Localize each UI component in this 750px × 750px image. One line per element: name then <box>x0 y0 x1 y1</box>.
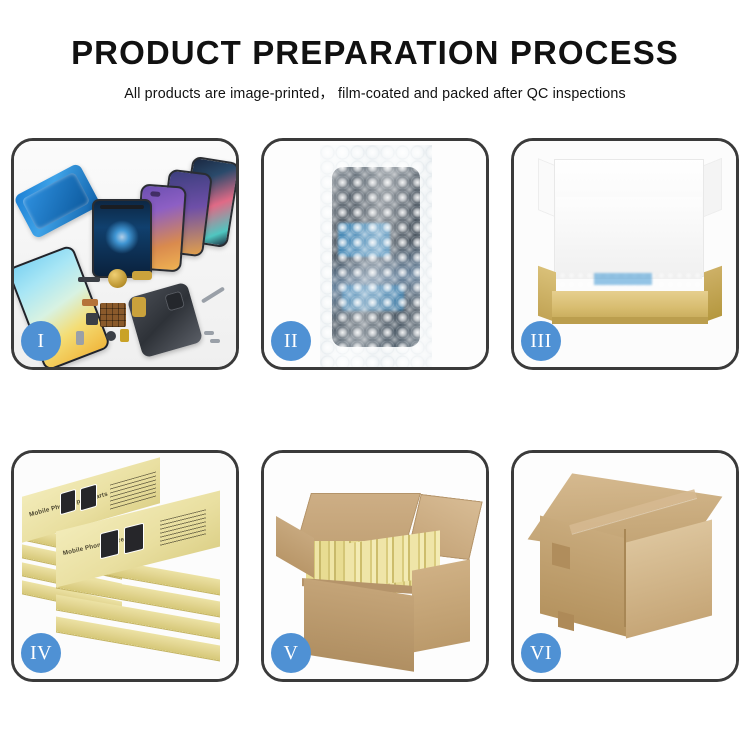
process-step-panel-3[interactable]: III <box>511 138 739 370</box>
small-part-icon <box>76 331 84 345</box>
retail-box-screen-graphic <box>80 484 97 512</box>
small-part-icon <box>106 331 116 341</box>
copper-part-icon <box>82 299 98 306</box>
phone-screen-glass-icon <box>92 199 152 278</box>
screw-part-icon <box>210 339 220 343</box>
box-bottom-edge-icon <box>552 317 708 324</box>
step-badge-6: VI <box>521 633 561 673</box>
step-badge-4: IV <box>21 633 61 673</box>
process-step-panel-5[interactable]: V <box>261 450 489 682</box>
step-badge-3: III <box>521 321 561 361</box>
process-step-panel-6[interactable]: VI <box>511 450 739 682</box>
foam-lining-icon <box>556 197 702 279</box>
small-part-icon <box>78 277 100 282</box>
small-part-icon <box>86 313 98 325</box>
carton-side-panel-icon <box>412 559 470 652</box>
process-step-panel-1[interactable]: I <box>11 138 239 370</box>
process-step-panel-4[interactable]: Mobile Phone Spare Parts Mobile Phone Sp… <box>11 450 239 682</box>
flex-cable-part-icon <box>132 297 146 317</box>
step-badge-5: V <box>271 633 311 673</box>
flex-cable-part-icon <box>132 271 152 280</box>
retail-box-screen-graphic <box>124 523 144 555</box>
header: PRODUCT PREPARATION PROCESS All products… <box>0 0 750 103</box>
battery-connector-part-icon <box>120 329 129 342</box>
process-step-grid: I II <box>11 138 739 682</box>
retail-box-screen-graphic <box>100 529 119 560</box>
retail-box-screen-graphic <box>60 489 76 516</box>
page-title: PRODUCT PREPARATION PROCESS <box>0 0 750 71</box>
circuit-board-part-icon <box>100 303 126 327</box>
screw-part-icon <box>204 331 214 335</box>
plastic-sheen-icon <box>320 145 432 369</box>
step-badge-2: II <box>271 321 311 361</box>
carton-vertical-edge-icon <box>624 529 626 627</box>
step-badge-1: I <box>21 321 61 361</box>
page-subtitle: All products are image-printed， film-coa… <box>0 71 750 103</box>
speaker-part-icon <box>108 269 127 288</box>
carton-tab-icon <box>552 543 570 570</box>
process-step-panel-2[interactable]: II <box>261 138 489 370</box>
product-preparation-infographic: PRODUCT PREPARATION PROCESS All products… <box>0 0 750 750</box>
packed-contents-highlight-icon <box>594 273 652 285</box>
